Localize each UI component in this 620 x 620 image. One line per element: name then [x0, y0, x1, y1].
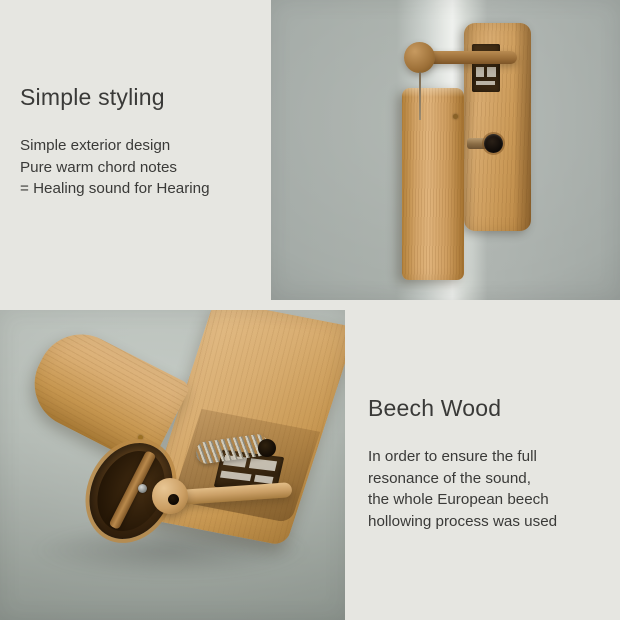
product-feature-collage: Simple styling Simple exterior design Pu…	[0, 0, 620, 620]
spring-anchor-hole	[258, 439, 276, 457]
beech-wood-line-2: resonance of the sound,	[368, 468, 557, 490]
beech-wood-text-block: Beech Wood In order to ensure the full r…	[368, 395, 557, 532]
beech-wood-heading: Beech Wood	[368, 395, 557, 422]
beech-wood-line-3: the whole European beech	[368, 489, 557, 511]
mounted-scene	[271, 0, 620, 300]
cylinder-brass-pin-disassembled	[138, 435, 143, 440]
photo-wall-mounted-chime	[271, 0, 620, 300]
simple-styling-line-1: Simple exterior design	[20, 135, 210, 157]
simple-styling-line-3: = Healing sound for Hearing	[20, 178, 210, 200]
simple-styling-heading: Simple styling	[20, 84, 210, 111]
pull-wire	[419, 72, 421, 120]
disassembled-scene	[0, 310, 345, 620]
simple-styling-text-block: Simple styling Simple exterior design Pu…	[20, 84, 210, 200]
assembly-screw	[138, 484, 147, 493]
photo-disassembled-chime	[0, 310, 345, 620]
simple-styling-line-2: Pure warm chord notes	[20, 157, 210, 179]
cylinder-brass-pin	[453, 114, 458, 119]
backplate-edge-shading	[515, 23, 531, 231]
pivot-hole	[484, 134, 503, 153]
cylinder-top-highlight	[402, 88, 464, 97]
beech-wood-line-4: hollowing process was used	[368, 511, 557, 533]
striker-ball	[404, 42, 435, 73]
striker-ball-hole	[168, 494, 179, 505]
beech-wood-line-1: In order to ensure the full	[368, 446, 557, 468]
